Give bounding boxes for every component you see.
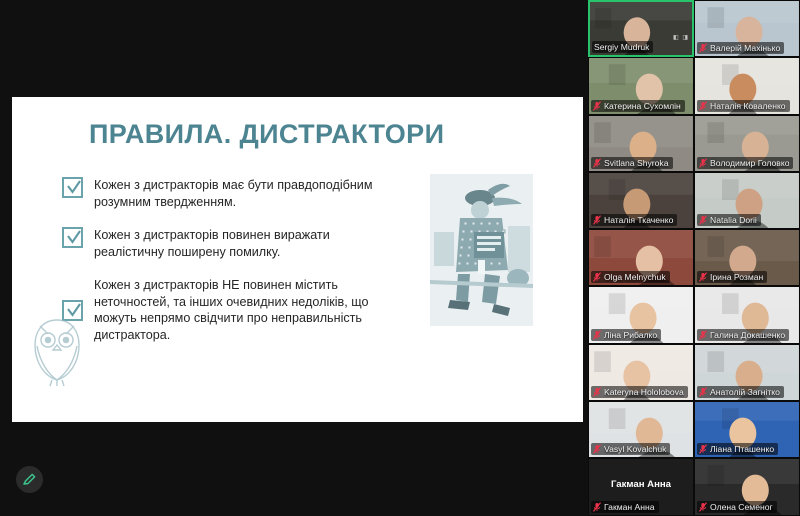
participant-tile[interactable]: Гакман АннаГакман Анна	[588, 458, 694, 515]
participant-name: Анатолій Загнітко	[710, 387, 780, 397]
participant-name: Ліна Рибалко	[604, 330, 657, 340]
shared-screen-region[interactable]: ПРАВИЛА. ДИСТРАКТОРИ Кожен з дистракторі…	[0, 0, 588, 516]
checkbox-checked-icon	[62, 227, 83, 248]
participant-nameplate: Vasyl Kovalchuk	[591, 443, 670, 455]
participant-name: Ліана Пташенко	[710, 444, 774, 454]
mute-microphone-icon	[593, 215, 601, 225]
participant-nameplate: Галина Докашенко	[697, 329, 789, 341]
participant-name: Володимир Головко	[710, 158, 789, 168]
participant-tile[interactable]: Kateryna Hololobova	[588, 344, 694, 401]
participant-tile[interactable]: Olga Melnychuk	[588, 229, 694, 286]
mute-microphone-icon	[593, 330, 601, 340]
slide-title: ПРАВИЛА. ДИСТРАКТОРИ	[89, 119, 444, 150]
participant-name: Наталія Коваленко	[710, 101, 786, 111]
slide-bullet-2: Кожен з дистракторів повинен виражати ре…	[62, 227, 392, 260]
participant-name: Ірина Розман	[710, 272, 763, 282]
participant-name: Катерина Сухомлін	[604, 101, 681, 111]
participant-tile[interactable]: Sergiy Mudruk◧ ◨	[588, 0, 694, 57]
mute-microphone-icon	[699, 502, 707, 512]
mute-microphone-icon	[699, 387, 707, 397]
participant-tile[interactable]: Svitlana Shyroka	[588, 115, 694, 172]
participant-filmstrip[interactable]: Sergiy Mudruk◧ ◨Валерій МахінькоКатерина…	[588, 0, 800, 516]
participant-tile[interactable]: Ліна Рибалко	[588, 286, 694, 343]
mute-microphone-icon	[699, 444, 707, 454]
participant-tile[interactable]: Natalia Dorii	[694, 172, 800, 229]
mute-microphone-icon	[593, 502, 601, 512]
participant-nameplate: Наталія Коваленко	[697, 100, 790, 112]
participant-name: Гакман Анна	[604, 502, 655, 512]
participant-nameplate: Kateryna Hololobova	[591, 386, 688, 398]
participant-name: Olga Melnychuk	[604, 272, 666, 282]
participant-center-name: Гакман Анна	[611, 479, 671, 490]
participant-name: Олена Семеног	[710, 502, 773, 512]
participant-tile[interactable]: Наталія Ткаченко	[588, 172, 694, 229]
participant-nameplate: Анатолій Загнітко	[697, 386, 784, 398]
slide-illustration-image	[430, 174, 533, 326]
mute-microphone-icon	[593, 444, 601, 454]
participant-nameplate: Валерій Махінько	[697, 42, 784, 54]
participant-name: Sergiy Mudruk	[594, 42, 649, 52]
participant-tile[interactable]: Ірина Розман	[694, 229, 800, 286]
participant-tile[interactable]: Анатолій Загнітко	[694, 344, 800, 401]
participant-nameplate: Ірина Розман	[697, 271, 767, 283]
participant-tile[interactable]: Володимир Головко	[694, 115, 800, 172]
participant-tile[interactable]: Vasyl Kovalchuk	[588, 401, 694, 458]
participant-nameplate: Гакман Анна	[591, 501, 659, 513]
pencil-icon	[22, 472, 37, 487]
participant-nameplate: Володимир Головко	[697, 157, 793, 169]
participant-nameplate: Олена Семеног	[697, 501, 777, 513]
mute-microphone-icon	[593, 272, 601, 282]
annotate-pencil-button[interactable]	[16, 466, 43, 493]
zoom-meeting-window: ПРАВИЛА. ДИСТРАКТОРИ Кожен з дистракторі…	[0, 0, 800, 516]
mute-microphone-icon	[593, 101, 601, 111]
participant-tile[interactable]: Валерій Махінько	[694, 0, 800, 57]
participant-tile[interactable]: Наталія Коваленко	[694, 57, 800, 114]
participant-nameplate: Ліана Пташенко	[697, 443, 778, 455]
participant-nameplate: Sergiy Mudruk	[592, 41, 653, 53]
participant-tile[interactable]: Олена Семеног	[694, 458, 800, 515]
participant-nameplate: Olga Melnychuk	[591, 271, 670, 283]
participant-tile[interactable]: Катерина Сухомлін	[588, 57, 694, 114]
self-view-badge: ◧ ◨	[673, 34, 689, 41]
slide-bullet-2-text: Кожен з дистракторів повинен виражати ре…	[94, 227, 392, 260]
participant-name: Наталія Ткаченко	[604, 215, 673, 225]
mute-microphone-icon	[593, 387, 601, 397]
slide-bullet-1-text: Кожен з дистракторів має бути правдоподі…	[94, 177, 392, 210]
participant-tile[interactable]: Ліана Пташенко	[694, 401, 800, 458]
participant-name: Natalia Dorii	[710, 215, 757, 225]
participant-name: Валерій Махінько	[710, 43, 780, 53]
owl-logo-icon	[26, 312, 88, 388]
mute-microphone-icon	[699, 43, 707, 53]
slide-bullet-3: Кожен з дистракторів НЕ повинен містить …	[62, 277, 402, 343]
participant-tile[interactable]: Галина Докашенко	[694, 286, 800, 343]
participant-name: Vasyl Kovalchuk	[604, 444, 666, 454]
presentation-slide: ПРАВИЛА. ДИСТРАКТОРИ Кожен з дистракторі…	[12, 97, 583, 422]
participant-nameplate: Наталія Ткаченко	[591, 214, 677, 226]
mute-microphone-icon	[593, 158, 601, 168]
mute-microphone-icon	[699, 101, 707, 111]
participant-nameplate: Ліна Рибалко	[591, 329, 661, 341]
mute-microphone-icon	[699, 215, 707, 225]
checkbox-checked-icon	[62, 177, 83, 198]
slide-bullet-3-text: Кожен з дистракторів НЕ повинен містить …	[94, 277, 402, 343]
participant-name: Kateryna Hololobova	[604, 387, 684, 397]
mute-microphone-icon	[699, 158, 707, 168]
participant-name: Галина Докашенко	[710, 330, 785, 340]
mute-microphone-icon	[699, 330, 707, 340]
participant-nameplate: Svitlana Shyroka	[591, 157, 673, 169]
mute-microphone-icon	[699, 272, 707, 282]
participant-nameplate: Катерина Сухомлін	[591, 100, 685, 112]
slide-bullet-1: Кожен з дистракторів має бути правдоподі…	[62, 177, 392, 210]
participant-name: Svitlana Shyroka	[604, 158, 669, 168]
participant-nameplate: Natalia Dorii	[697, 214, 761, 226]
